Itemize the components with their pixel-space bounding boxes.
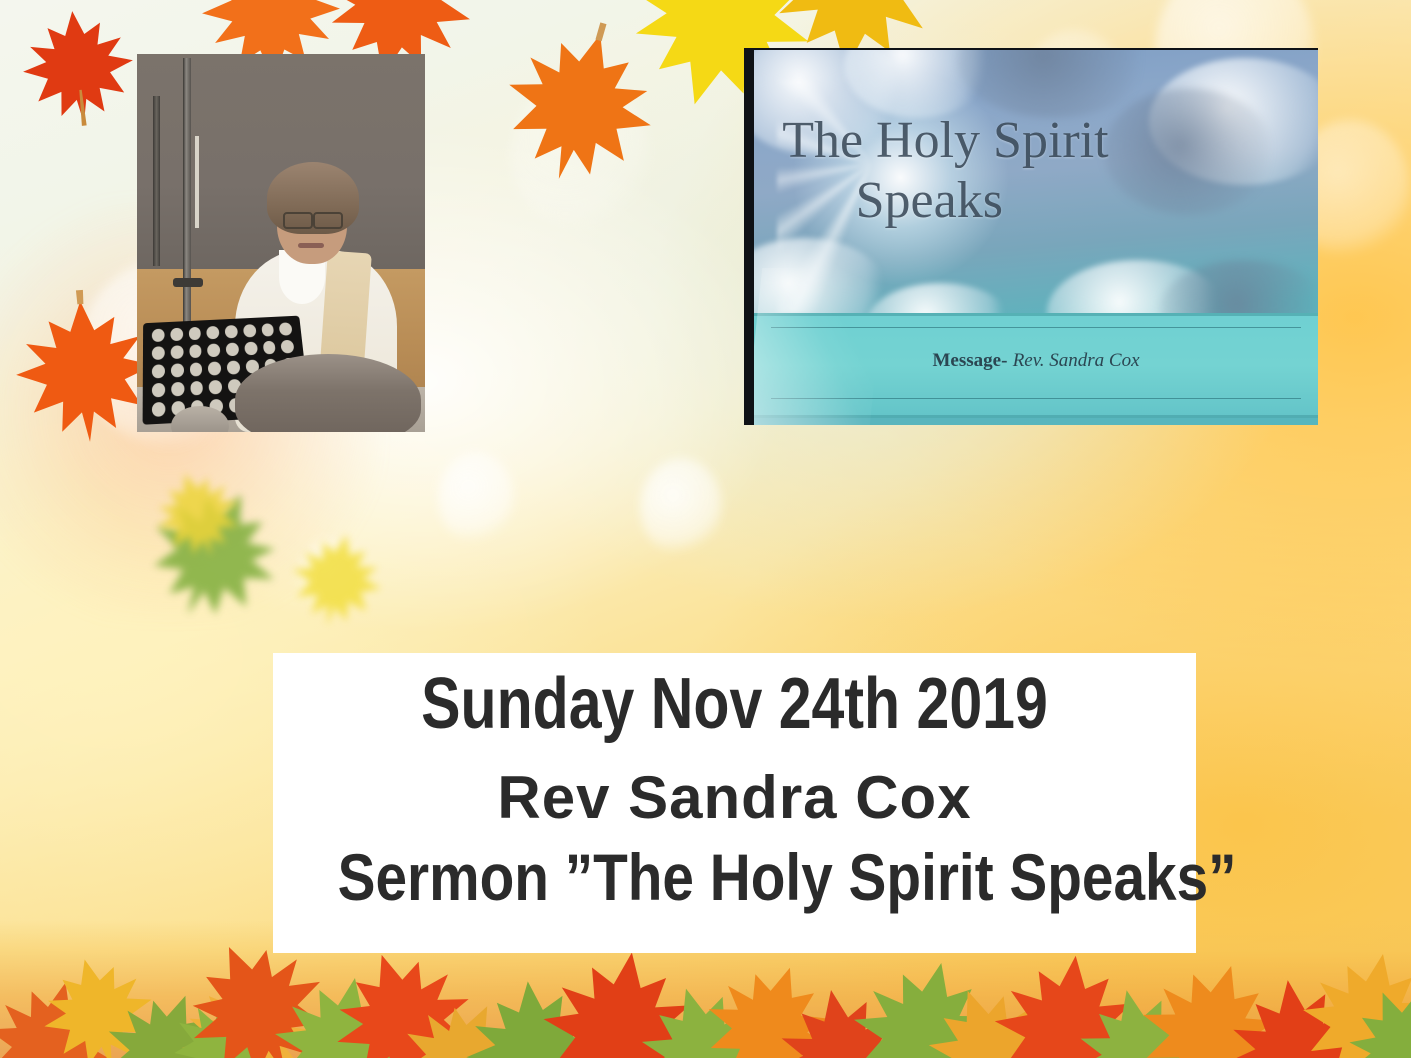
screen-glare: [754, 268, 886, 426]
announcement-speaker-line: Rev Sandra Cox: [273, 763, 1196, 832]
bokeh-circle: [438, 452, 514, 544]
announcement-slide: The Holy Spirit Speaks Message- Rev. San…: [0, 0, 1411, 1058]
slide-message-speaker: Rev. Sandra Cox: [1013, 350, 1140, 371]
pastor-glasses: [313, 212, 343, 229]
pastor-glasses: [283, 212, 313, 229]
pastor-mouth: [298, 243, 324, 248]
slide-title-line-2: Speaks: [856, 174, 1307, 229]
slide-message-label: Message-: [932, 350, 1007, 371]
mic-stand-pole-secondary: [153, 96, 160, 266]
announcement-text-block: Sunday Nov 24th 2019 Rev Sandra Cox Serm…: [273, 653, 1196, 953]
announcement-date-line: Sunday Nov 24th 2019: [356, 663, 1113, 745]
slide-title: The Holy Spirit Speaks: [782, 114, 1307, 229]
mic-stand-pole: [183, 58, 191, 328]
announcement-panel: Sunday Nov 24th 2019 Rev Sandra Cox Serm…: [273, 653, 1196, 953]
slide-title-line-1: The Holy Spirit: [782, 112, 1108, 169]
maple-leaf-icon: [278, 519, 395, 639]
mic-stand-pole-thin: [195, 136, 199, 228]
mic-stand-base: [173, 278, 203, 287]
pastor-photo: [137, 54, 425, 432]
maple-leaf-icon: [12, 0, 145, 136]
worship-slide-photo: The Holy Spirit Speaks Message- Rev. San…: [744, 48, 1318, 425]
projected-slide: The Holy Spirit Speaks Message- Rev. San…: [754, 50, 1318, 425]
bokeh-circle: [640, 458, 722, 556]
announcement-sermon-line: Sermon ”The Holy Spirit Speaks”: [338, 839, 1132, 915]
